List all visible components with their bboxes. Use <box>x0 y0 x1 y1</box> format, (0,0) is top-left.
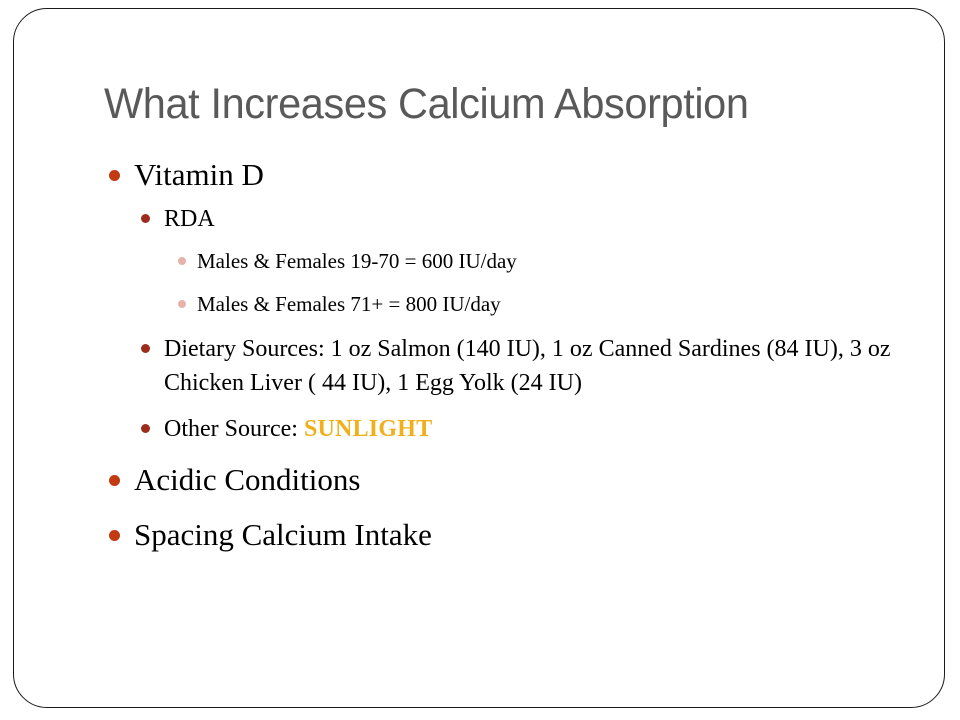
bullet-dot-icon <box>141 344 150 353</box>
list-item[interactable]: Males & Females 19-70 = 600 IU/day <box>0 246 960 276</box>
list-item-label-prefix: Other Source: <box>164 416 304 442</box>
list-item[interactable]: Vitamin D <box>0 155 960 195</box>
slide-canvas: What Increases Calcium Absorption Vitami… <box>0 0 960 720</box>
list-item-label: Males & Females 71+ = 800 IU/day <box>197 289 916 319</box>
bullet-dot-icon <box>141 424 150 433</box>
bullet-dot-icon <box>109 475 120 486</box>
list-item[interactable]: Other Source: SUNLIGHT <box>0 412 960 446</box>
bullet-dot-icon <box>109 530 120 541</box>
list-item[interactable]: Dietary Sources: 1 oz Salmon (140 IU), 1… <box>0 332 960 400</box>
list-item[interactable]: Acidic Conditions <box>0 460 960 500</box>
list-item-label: Dietary Sources: 1 oz Salmon (140 IU), 1… <box>164 332 916 400</box>
list-item-label: Other Source: SUNLIGHT <box>164 412 916 446</box>
list-item[interactable]: RDA <box>0 202 960 236</box>
bullet-list: Vitamin D RDA Males & Females 19-70 = 60… <box>0 155 960 555</box>
list-item-label: Vitamin D <box>134 155 920 195</box>
list-item-label: Spacing Calcium Intake <box>134 515 920 555</box>
page-title: What Increases Calcium Absorption <box>104 82 895 128</box>
bullet-dot-icon <box>178 300 186 308</box>
bullet-dot-icon <box>109 170 120 181</box>
bullet-dot-icon <box>178 257 186 265</box>
list-item-label: Acidic Conditions <box>134 460 920 500</box>
list-item-label: Males & Females 19-70 = 600 IU/day <box>197 246 916 276</box>
bullet-dot-icon <box>141 214 150 223</box>
list-item-label: RDA <box>164 202 916 236</box>
sunlight-highlight: SUNLIGHT <box>304 416 432 442</box>
list-item[interactable]: Spacing Calcium Intake <box>0 515 960 555</box>
list-item[interactable]: Males & Females 71+ = 800 IU/day <box>0 289 960 319</box>
